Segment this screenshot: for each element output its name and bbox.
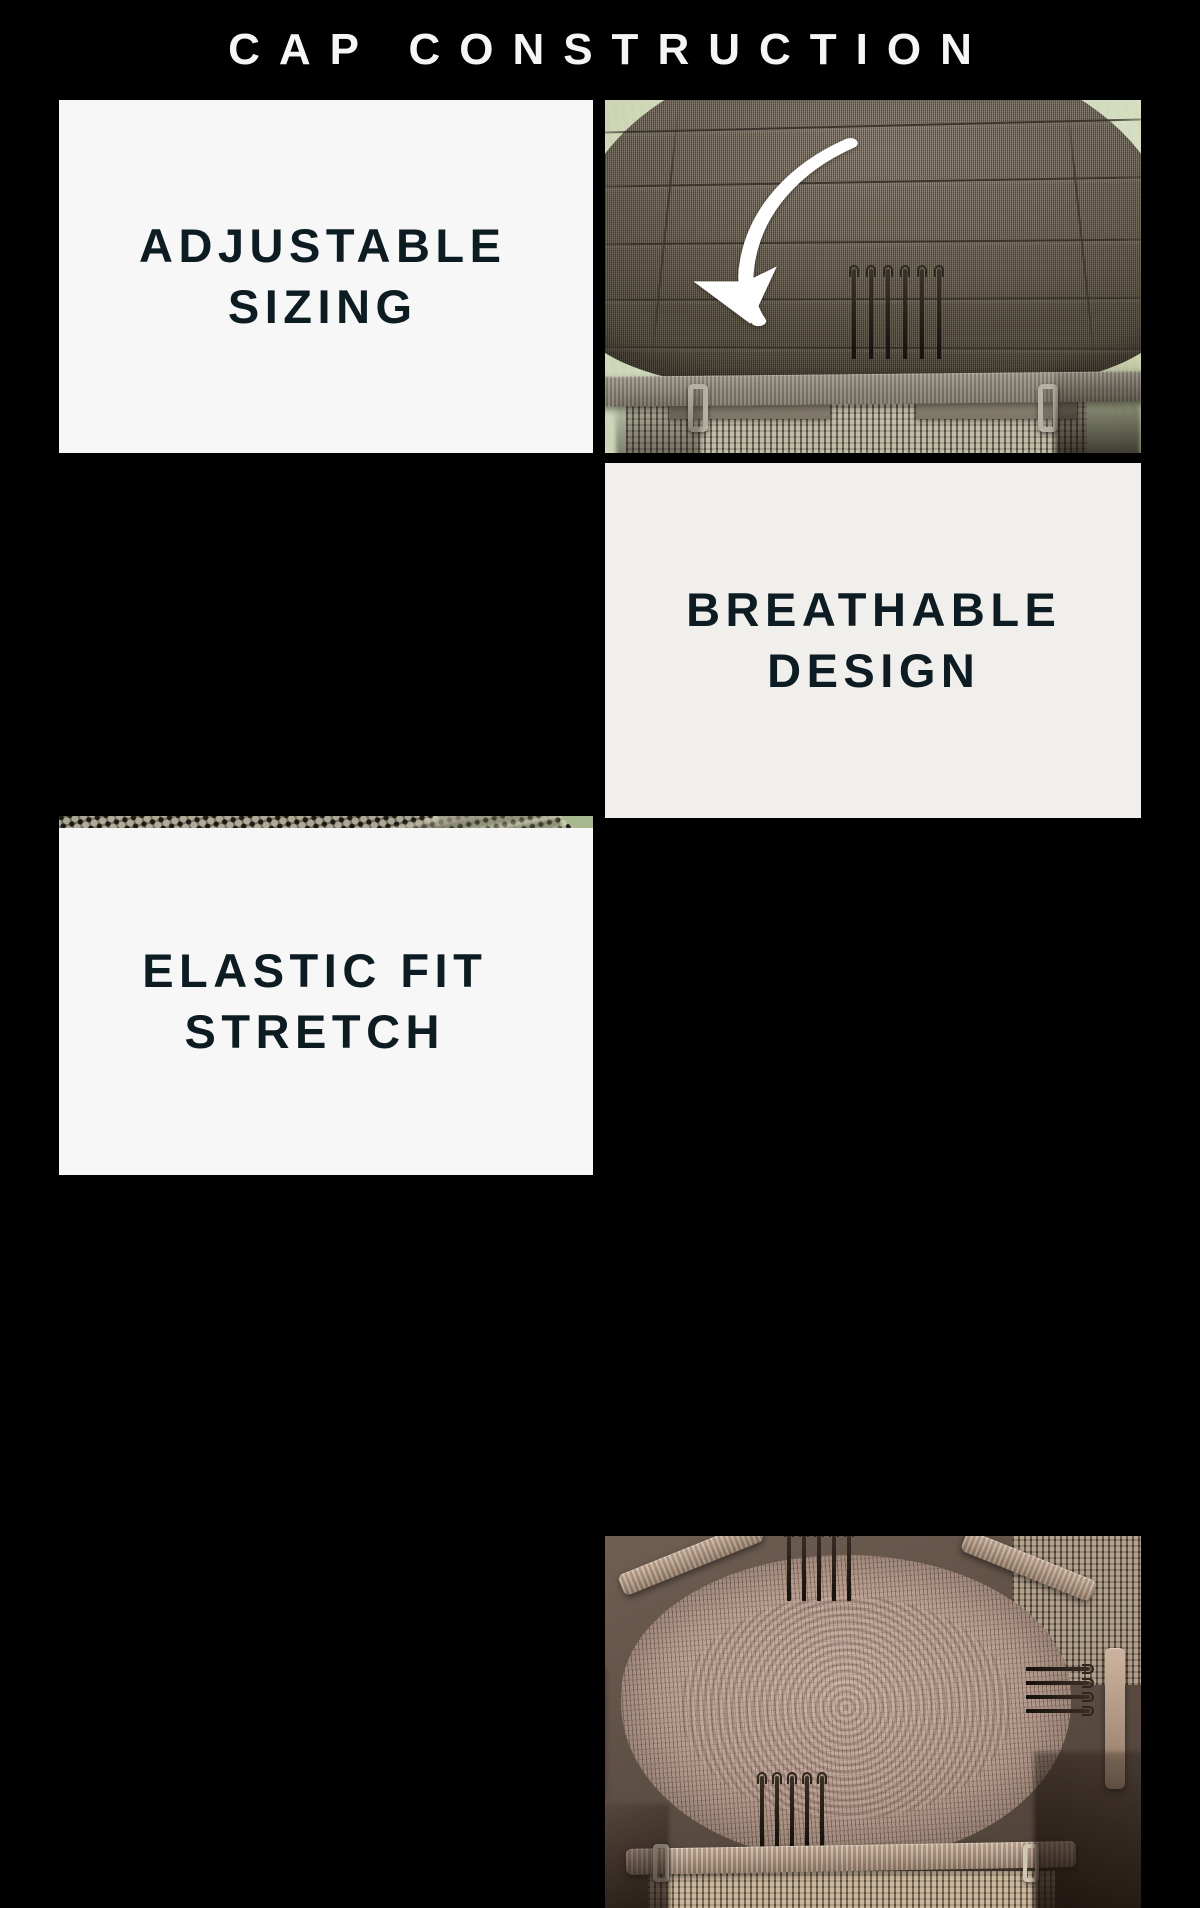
cap-comb xyxy=(787,1536,883,1601)
comb-tooth xyxy=(886,269,890,359)
feature-label-line-2: SIZING xyxy=(134,277,507,337)
photo-cap-back-adjustable-straps xyxy=(605,100,1141,453)
adjustable-strap-band xyxy=(626,1841,1077,1875)
feature-label-line-1: BREATHABLE xyxy=(681,580,1062,640)
comb-tooth xyxy=(802,1536,806,1601)
feature-grid: ADJUSTABLE SIZING xyxy=(59,100,1141,1200)
hair-strands xyxy=(1055,361,1141,453)
feature-label-stack: ELASTIC FIT STRETCH xyxy=(137,941,488,1061)
comb-tooth xyxy=(787,1536,791,1601)
comb-tooth xyxy=(1026,1667,1090,1671)
comb-tooth xyxy=(937,269,941,359)
hair-strands xyxy=(616,389,702,453)
comb-tooth xyxy=(805,1776,809,1848)
feature-label-stack: ADJUSTABLE SIZING xyxy=(134,216,507,336)
hair-strands xyxy=(605,1804,669,1908)
hair-strands xyxy=(1034,1752,1141,1908)
cap-net-skirt xyxy=(648,1871,1055,1908)
photo-cap-interior-lace-top xyxy=(605,1536,1141,1908)
cap-comb xyxy=(760,1776,856,1848)
page-title: CAP CONSTRUCTION xyxy=(209,28,991,72)
feature-label-stack: BREATHABLE DESIGN xyxy=(681,580,1062,700)
comb-tooth xyxy=(790,1776,794,1848)
feature-label-line-1: ELASTIC FIT xyxy=(137,941,488,1001)
comb-tooth xyxy=(1026,1709,1090,1713)
feature-label-line-2: DESIGN xyxy=(681,641,1062,701)
feature-card-breathable-design: BREATHABLE DESIGN xyxy=(605,463,1141,818)
title-bar: CAP CONSTRUCTION xyxy=(0,0,1200,100)
comb-tooth xyxy=(760,1776,764,1848)
comb-tooth xyxy=(1026,1681,1090,1685)
comb-tooth xyxy=(920,269,924,359)
comb-tooth xyxy=(817,1536,821,1601)
comb-tooth xyxy=(820,1776,824,1848)
comb-tooth xyxy=(775,1776,779,1848)
feature-label-line-2: STRETCH xyxy=(137,1002,488,1062)
strap-weave-texture xyxy=(626,1841,1077,1875)
feature-label-line-1: ADJUSTABLE xyxy=(134,216,507,276)
comb-tooth xyxy=(847,1536,851,1601)
feature-card-elastic-fit-stretch: ELASTIC FIT STRETCH xyxy=(59,828,593,1175)
comb-tooth xyxy=(1026,1695,1090,1699)
feature-card-adjustable-sizing: ADJUSTABLE SIZING xyxy=(59,100,593,453)
comb-tooth xyxy=(903,269,907,359)
cap-comb xyxy=(1026,1667,1090,1737)
comb-tooth xyxy=(832,1536,836,1601)
cap-construction-infographic: CAP CONSTRUCTION ADJUSTABLE SIZING xyxy=(0,0,1200,1200)
curved-arrow-annotation xyxy=(675,135,879,354)
